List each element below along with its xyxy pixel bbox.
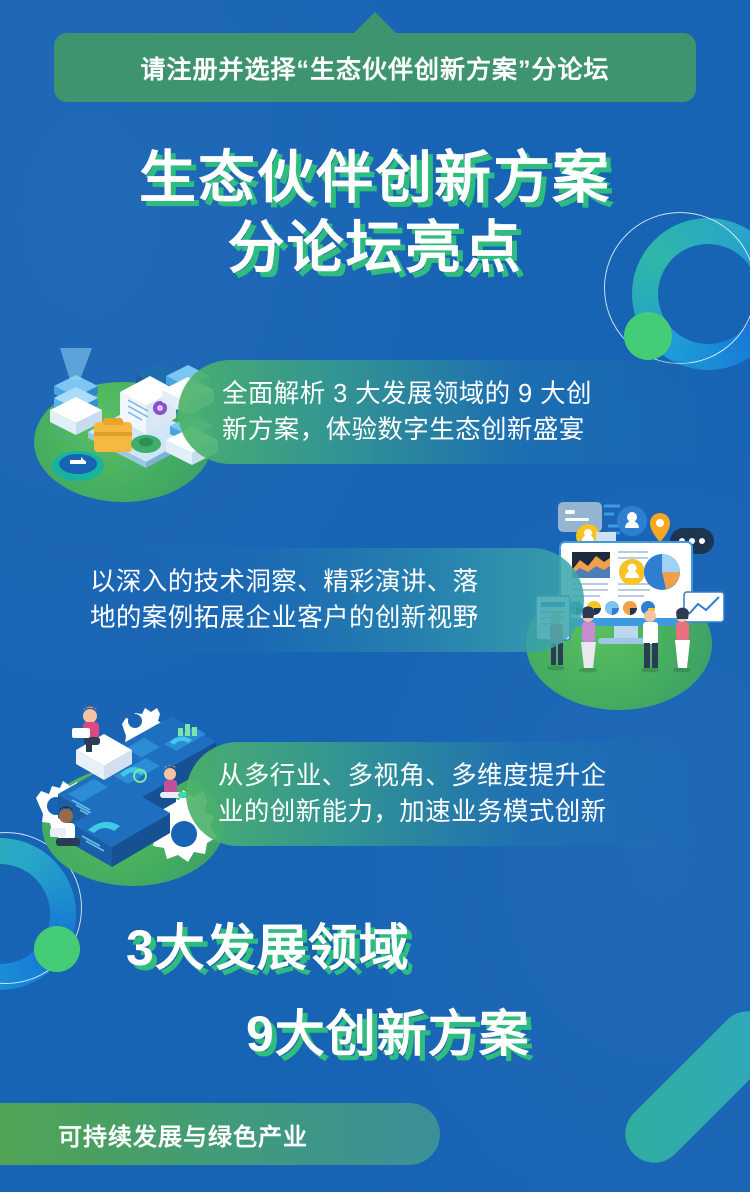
highlight-text-2: 以深入的技术洞察、精彩演讲、落 地的案例拓展企业客户的创新视野 (90, 564, 479, 636)
highlight-pill-3: 从多行业、多视角、多维度提升企 业的创新能力，加速业务模式创新 (186, 742, 726, 846)
footer-banner: 可持续发展与绿色产业 (0, 1103, 440, 1165)
highlight-text-3: 从多行业、多视角、多维度提升企 业的创新能力，加速业务模式创新 (218, 758, 607, 830)
banner-arrow-icon (353, 12, 397, 34)
summary-line-2: 9大创新方案 (246, 994, 530, 1066)
banner-body: 请注册并选择“生态伙伴创新方案”分论坛 (54, 33, 696, 102)
page-title-line-2: 分论坛亮点 (0, 218, 750, 278)
page-title: 生态伙伴创新方案 分论坛亮点 (0, 148, 750, 279)
highlight-row-3: 从多行业、多视角、多维度提升企 业的创新能力，加速业务模式创新 (0, 694, 750, 874)
top-banner: 请注册并选择“生态伙伴创新方案”分论坛 (0, 33, 750, 102)
highlight-pill-2: 以深入的技术洞察、精彩演讲、落 地的案例拓展企业客户的创新视野 (60, 548, 584, 652)
poster-canvas: 请注册并选择“生态伙伴创新方案”分论坛 生态伙伴创新方案 分论坛亮点 (0, 0, 750, 1192)
highlight-pill-1: 全面解析 3 大发展领域的 9 大创 新方案，体验数字生态创新盛宴 (178, 360, 724, 464)
banner-text: 请注册并选择“生态伙伴创新方案”分论坛 (140, 50, 609, 86)
page-title-line-1: 生态伙伴创新方案 (0, 148, 750, 208)
highlight-row-2: 以深入的技术洞察、精彩演讲、落 地的案例拓展企业客户的创新视野 (0, 496, 750, 676)
summary-line-1: 3大发展领域 (126, 908, 410, 980)
highlight-row-1: 全面解析 3 大发展领域的 9 大创 新方案，体验数字生态创新盛宴 (0, 344, 750, 494)
highlight-text-1: 全面解析 3 大发展领域的 9 大创 新方案，体验数字生态创新盛宴 (222, 376, 592, 448)
footer-text: 可持续发展与绿色产业 (58, 1117, 308, 1152)
